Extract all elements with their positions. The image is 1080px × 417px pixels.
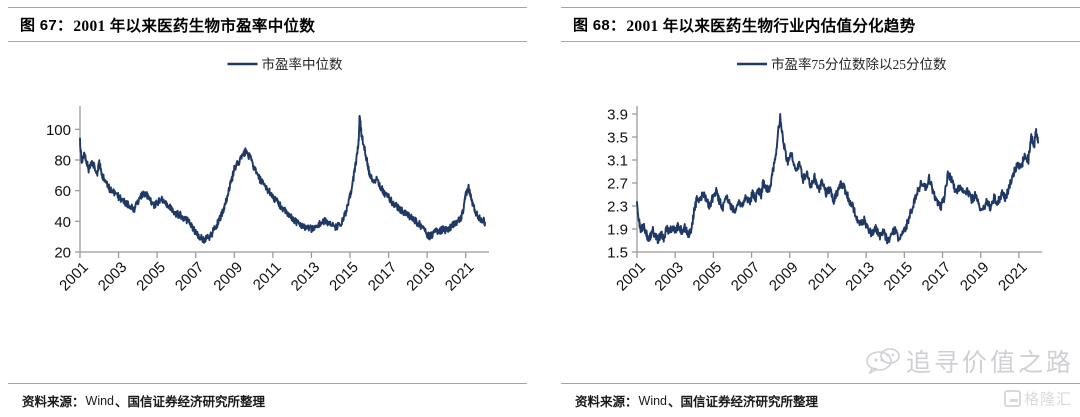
x-tick-label: 2017 xyxy=(365,259,401,295)
x-tick-label: 2011 xyxy=(805,259,840,294)
source-label: 资料来源： xyxy=(22,391,85,410)
chart-legend: 市盈率75分位数除以25分位数 xyxy=(737,56,947,72)
x-tick-label: 2021 xyxy=(442,259,478,295)
y-tick-label: 1.5 xyxy=(607,245,628,262)
x-tick-label: 2015 xyxy=(326,259,362,295)
source-provider: Wind xyxy=(638,394,668,408)
figure-number-68: 图 68： xyxy=(573,14,625,35)
x-tick-label: 2009 xyxy=(210,259,246,295)
figure-page: 图 67： 2001 年以来医药生物市盈率中位数 市盈率中位数204060801… xyxy=(0,0,1080,417)
line-chart-68: 市盈率75分位数除以25分位数1.51.92.32.73.13.53.92001… xyxy=(561,42,1080,339)
figure-caption-68: 图 68： 2001 年以来医药生物行业内估值分化趋势 xyxy=(561,8,1080,41)
x-tick-label: 2005 xyxy=(690,259,726,295)
figure-caption-67: 图 67： 2001 年以来医药生物市盈率中位数 xyxy=(8,8,527,41)
source-label: 资料来源： xyxy=(575,391,638,410)
x-tick-label: 2011 xyxy=(250,259,285,294)
x-tick-label: 2013 xyxy=(842,259,878,295)
chart-area-68: 市盈率75分位数除以25分位数1.51.92.32.73.13.53.92001… xyxy=(561,42,1080,383)
x-tick-label: 2015 xyxy=(881,259,917,295)
figure-title-67: 2001 年以来医药生物市盈率中位数 xyxy=(73,14,315,36)
series-line xyxy=(637,114,1038,243)
y-tick-label: 3.9 xyxy=(607,107,628,124)
legend-label: 市盈率中位数 xyxy=(262,56,343,72)
x-tick-label: 2005 xyxy=(133,259,169,295)
legend-label: 市盈率75分位数除以25分位数 xyxy=(771,56,947,72)
y-tick-label: 2.7 xyxy=(607,176,628,193)
x-tick-label: 2003 xyxy=(95,259,131,295)
y-tick-label: 80 xyxy=(54,153,71,170)
x-tick-label: 2019 xyxy=(957,259,993,295)
y-tick-label: 60 xyxy=(54,183,71,200)
y-tick-label: 2.3 xyxy=(607,199,628,216)
chart-axes: 2040608010020012003200520072009201120132… xyxy=(46,106,489,294)
source-note-67: 资料来源： Wind 、国信证券经济研究所整理 xyxy=(8,384,527,417)
y-tick-label: 1.9 xyxy=(607,222,628,239)
y-tick-label: 40 xyxy=(54,214,71,231)
x-tick-label: 2007 xyxy=(728,259,764,295)
x-tick-label: 2021 xyxy=(995,259,1031,295)
y-tick-label: 100 xyxy=(46,122,71,139)
source-institution: 、国信证券经济研究所整理 xyxy=(668,391,818,410)
figure-panel-68: 图 68： 2001 年以来医药生物行业内估值分化趋势 市盈率75分位数除以25… xyxy=(561,0,1080,417)
figure-number-67: 图 67： xyxy=(20,14,72,35)
line-chart-67: 市盈率中位数2040608010020012003200520072009201… xyxy=(8,42,527,339)
x-tick-label: 2009 xyxy=(766,259,802,295)
x-tick-label: 2001 xyxy=(56,259,92,295)
figure-title-68: 2001 年以来医药生物行业内估值分化趋势 xyxy=(626,14,915,36)
x-tick-label: 2003 xyxy=(651,259,687,295)
y-tick-label: 3.1 xyxy=(607,153,628,170)
chart-area-67: 市盈率中位数2040608010020012003200520072009201… xyxy=(8,42,527,383)
x-tick-label: 2001 xyxy=(613,259,649,295)
series-line xyxy=(80,116,485,243)
x-tick-label: 2007 xyxy=(172,259,208,295)
y-tick-label: 20 xyxy=(54,245,71,262)
source-note-68: 资料来源： Wind 、国信证券经济研究所整理 xyxy=(561,384,1080,417)
source-provider: Wind xyxy=(85,394,115,408)
x-tick-label: 2013 xyxy=(288,259,324,295)
x-tick-label: 2017 xyxy=(919,259,955,295)
y-tick-label: 3.5 xyxy=(607,130,628,147)
chart-legend: 市盈率中位数 xyxy=(228,56,343,72)
figure-panel-67: 图 67： 2001 年以来医药生物市盈率中位数 市盈率中位数204060801… xyxy=(8,0,527,417)
figure-panels: 图 67： 2001 年以来医药生物市盈率中位数 市盈率中位数204060801… xyxy=(0,0,1080,417)
x-tick-label: 2019 xyxy=(403,259,439,295)
source-institution: 、国信证券经济研究所整理 xyxy=(115,391,265,410)
